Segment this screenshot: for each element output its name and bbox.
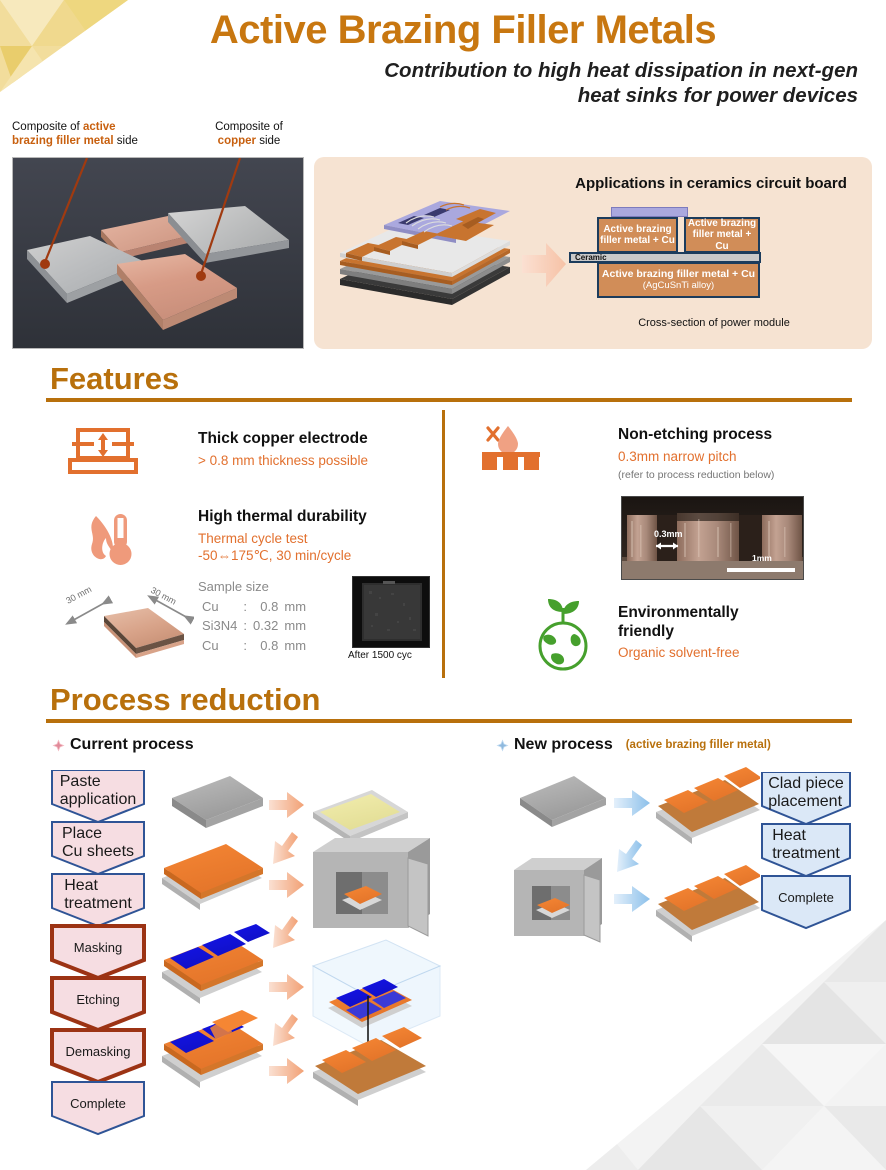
flow-step-label-l1: Paste bbox=[60, 773, 101, 790]
non-etching-icon bbox=[474, 424, 550, 474]
feature-heading-line1: Environmentally bbox=[618, 604, 852, 623]
current-process-heading: Current process bbox=[52, 736, 194, 754]
xsec-block-bottom: Active brazing filler metal + Cu (AgCuSn… bbox=[597, 262, 760, 298]
after-cycles-caption: After 1500 cyc bbox=[348, 650, 412, 661]
flow-step-label-l1: Complete bbox=[70, 1096, 126, 1111]
flow-step-label-l1: Place bbox=[62, 825, 102, 842]
page-subtitle-line1: Contribution to high heat dissipation in… bbox=[200, 58, 858, 83]
feature-heading: High thermal durability bbox=[198, 508, 434, 527]
caption-active-side-accent2: brazing filler metal bbox=[12, 135, 114, 147]
table-row: Cu : 0.8 mm bbox=[200, 637, 308, 655]
process-section-title: Process reduction bbox=[46, 684, 852, 715]
caption-copper-side-post: side bbox=[256, 135, 280, 147]
page-subtitle: Contribution to high heat dissipation in… bbox=[0, 58, 886, 108]
flow-step-demasking: Demasking bbox=[52, 1034, 144, 1068]
flow-step-label-l1: Etching bbox=[76, 992, 119, 1007]
flow-step-label-l2: treatment bbox=[772, 845, 840, 862]
new-process-tag: (active brazing filler metal) bbox=[626, 739, 771, 751]
sample-material: Si3N4 bbox=[200, 617, 239, 635]
page-title: Active Brazing Filler Metals bbox=[0, 8, 886, 52]
new-process-title: New process bbox=[514, 736, 613, 754]
flow-step-clad-piece-placement: Clad pieceplacement bbox=[760, 776, 852, 810]
diamond-bullet-icon bbox=[52, 739, 65, 752]
xsec-ceramic-label: Ceramic bbox=[575, 253, 607, 262]
xsec-block-bottom-l1: Active brazing filler metal + Cu bbox=[602, 269, 755, 281]
caption-copper-side: Composite ofcopper side bbox=[194, 120, 304, 149]
sample-size-rows: Cu : 0.8 mm Si3N4 : 0.32 mm Cu : 0.8 mm bbox=[198, 596, 310, 657]
feature-sub-line1: Thermal cycle test bbox=[198, 530, 434, 547]
after-cycles-photo bbox=[352, 576, 430, 648]
flow-step-heat-treatment: Heattreatment bbox=[760, 828, 852, 862]
features-section-rule bbox=[46, 398, 852, 402]
flow-step-label-l2: Cu sheets bbox=[62, 843, 134, 860]
photo-captions: Composite of activebrazing filler metal … bbox=[12, 120, 304, 149]
micrograph-pitch-label: 0.3mm bbox=[654, 529, 683, 539]
flow-step-label-l1: Demasking bbox=[65, 1044, 130, 1059]
sample-unit: mm bbox=[282, 617, 308, 635]
sample-unit: mm bbox=[282, 637, 308, 655]
narrow-pitch-micrograph: 0.3mm 1mm bbox=[621, 496, 804, 580]
current-process-illustrations bbox=[150, 760, 450, 1110]
leader-dot-copper bbox=[196, 271, 206, 281]
sample-size-title: Sample size bbox=[198, 578, 310, 596]
caption-active-side-post: side bbox=[114, 135, 138, 147]
feature-sub-line2: -50⇔175℃, 30 min/cycle bbox=[198, 547, 434, 564]
sample-dim-right-label: 30 mm bbox=[149, 585, 178, 607]
xsec-block-top-left-l1: Active brazing bbox=[603, 224, 671, 235]
leader-line-copper bbox=[201, 158, 240, 274]
sample-plate-illustration: 30 mm 30 mm bbox=[62, 578, 194, 670]
process-section-header: Process reduction bbox=[46, 684, 852, 723]
flow-step-label-l1: Clad piece bbox=[768, 775, 844, 792]
eco-plant-globe-icon bbox=[530, 596, 596, 674]
flow-step-etching: Etching bbox=[52, 982, 144, 1016]
flow-step-label-l1: Heat bbox=[64, 877, 98, 894]
flow-step-label-l1: Complete bbox=[778, 890, 834, 905]
feature-sub: > 0.8 mm thickness possible bbox=[198, 452, 434, 469]
power-module-3d-illustration bbox=[328, 181, 528, 321]
thermal-durability-icon bbox=[76, 508, 138, 570]
flow-step-place-cu-sheets: PlaceCu sheets bbox=[52, 826, 144, 860]
table-row: Si3N4 : 0.32 mm bbox=[200, 617, 308, 635]
xsec-block-top-right: Active brazing filler metal + Cu bbox=[684, 217, 760, 253]
leader-line-active bbox=[45, 158, 87, 262]
sample-material: Cu bbox=[200, 637, 239, 655]
features-content: Thick copper electrode > 0.8 mm thicknes… bbox=[46, 410, 852, 680]
leader-dot-active bbox=[40, 259, 50, 269]
sample-sep: : bbox=[241, 617, 249, 635]
new-process-illustrations bbox=[500, 760, 760, 960]
feature-environmentally-friendly: Environmentally friendly Organic solvent… bbox=[618, 604, 852, 661]
micrograph-scale-label: 1mm bbox=[752, 553, 772, 563]
page-subtitle-line2: heat sinks for power devices bbox=[200, 83, 858, 108]
feature-heading-line2: friendly bbox=[618, 623, 852, 642]
caption-active-side-pre: Composite of bbox=[12, 121, 83, 133]
features-section-header: Features bbox=[46, 363, 852, 402]
thick-copper-electrode-icon bbox=[68, 428, 138, 476]
caption-copper-side-pre: Composite of bbox=[215, 121, 283, 133]
feature-note: (refer to process reduction below) bbox=[618, 469, 852, 481]
feature-thick-copper-electrode: Thick copper electrode > 0.8 mm thicknes… bbox=[198, 430, 434, 469]
flow-step-label-l1: Heat bbox=[772, 827, 806, 844]
sample-value: 0.8 bbox=[251, 637, 280, 655]
flow-step-paste-application: Pasteapplication bbox=[52, 774, 144, 808]
flow-step-label-l1: Masking bbox=[74, 940, 122, 955]
flow-step-complete: Complete bbox=[52, 1086, 144, 1120]
diamond-bullet-icon bbox=[496, 739, 509, 752]
caption-copper-side-accent: copper bbox=[218, 135, 256, 147]
current-process-title: Current process bbox=[70, 736, 194, 754]
feature-sub: 0.3mm narrow pitch bbox=[618, 448, 852, 465]
page-header: Active Brazing Filler Metals Contributio… bbox=[0, 8, 886, 108]
xsec-chip bbox=[611, 207, 688, 217]
flow-arrow-icon bbox=[520, 241, 568, 291]
applications-panel: Applications in ceramics circuit board A… bbox=[314, 157, 872, 349]
feature-non-etching-process: Non-etching process 0.3mm narrow pitch (… bbox=[618, 426, 852, 481]
new-process-heading: New process (active brazing filler metal… bbox=[496, 736, 771, 754]
flow-step-complete: Complete bbox=[760, 880, 852, 914]
sample-value: 0.32 bbox=[251, 617, 280, 635]
sample-size-table: Sample size Cu : 0.8 mm Si3N4 : 0.32 mm … bbox=[198, 578, 310, 656]
sample-sep: : bbox=[241, 637, 249, 655]
feature-heading: Non-etching process bbox=[618, 426, 852, 445]
feature-sub: Organic solvent-free bbox=[618, 644, 852, 661]
xsec-block-top-left: Active brazing filler metal + Cu bbox=[597, 217, 678, 253]
new-process-flowchart: Clad pieceplacement Heattreatment Comple… bbox=[760, 772, 852, 952]
applications-title: Applications in ceramics circuit board bbox=[556, 175, 866, 192]
sample-value: 0.8 bbox=[251, 598, 280, 616]
cross-section-caption: Cross-section of power module bbox=[569, 317, 859, 329]
flow-step-label-l2: treatment bbox=[64, 895, 132, 912]
table-row: Cu : 0.8 mm bbox=[200, 598, 308, 616]
xsec-block-top-right-l1: Active brazing bbox=[688, 218, 756, 229]
sample-material: Cu bbox=[200, 598, 239, 616]
sample-sep: : bbox=[241, 598, 249, 616]
flow-step-label-l2: application bbox=[60, 791, 137, 808]
xsec-block-bottom-l2: (AgCuSnTi alloy) bbox=[643, 281, 714, 292]
composite-samples-photo bbox=[12, 157, 304, 349]
sample-dim-left-label: 30 mm bbox=[64, 584, 93, 606]
xsec-block-top-left-l2: filler metal + Cu bbox=[600, 235, 675, 246]
cross-section-diagram: Active brazing filler metal + Cu Active … bbox=[569, 205, 859, 313]
features-column-divider bbox=[442, 410, 445, 678]
current-process-flowchart: Pasteapplication PlaceCu sheets Heattrea… bbox=[48, 770, 148, 1150]
flow-step-heat-treatment: Heattreatment bbox=[52, 878, 144, 912]
sample-unit: mm bbox=[282, 598, 308, 616]
caption-active-side: Composite of activebrazing filler metal … bbox=[12, 120, 162, 149]
flow-step-label-l2: placement bbox=[768, 793, 842, 810]
features-section-title: Features bbox=[46, 363, 852, 394]
xsec-block-top-right-l2: filler metal + Cu bbox=[686, 229, 758, 251]
feature-high-thermal-durability: High thermal durability Thermal cycle te… bbox=[198, 508, 434, 564]
caption-active-side-accent: active bbox=[83, 121, 116, 133]
feature-heading: Thick copper electrode bbox=[198, 430, 434, 449]
process-section-rule bbox=[46, 719, 852, 723]
flow-step-masking: Masking bbox=[52, 930, 144, 964]
